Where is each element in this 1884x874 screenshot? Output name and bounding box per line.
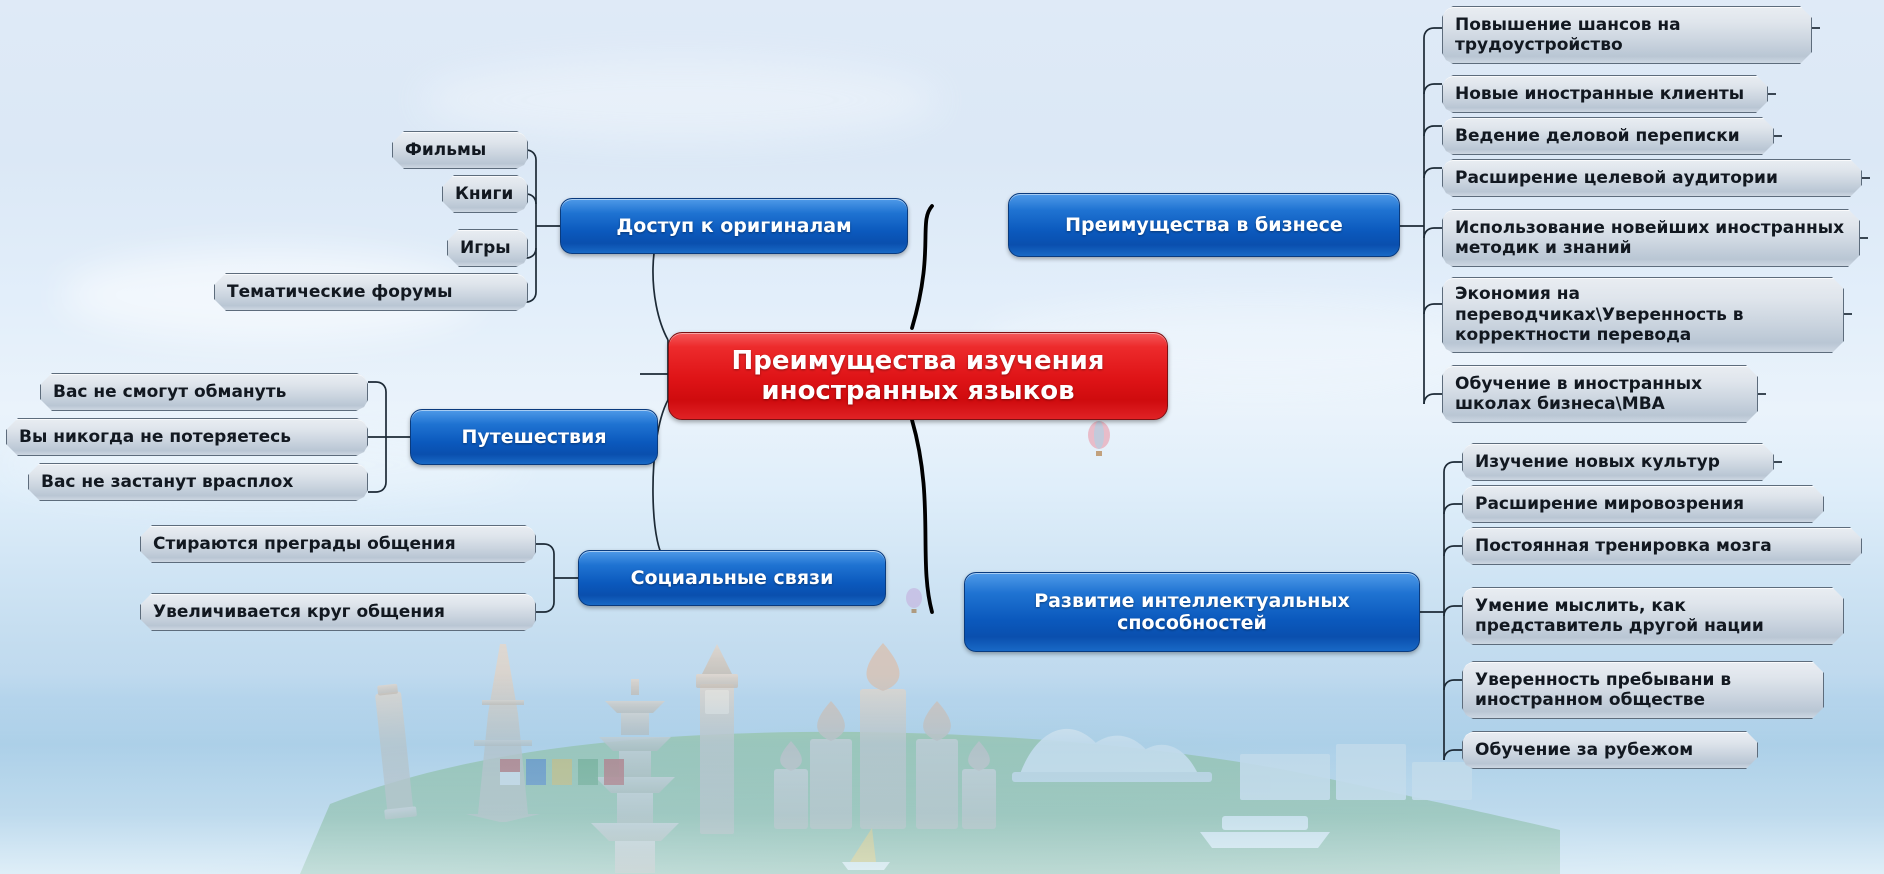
root-node[interactable]: Преимущества изучения иностранных языков [668, 332, 1168, 420]
leaf-node[interactable]: Увеличивается круг общения [140, 593, 536, 631]
hot-air-balloon-icon [905, 588, 923, 616]
leaf-node[interactable]: Обучение в иностранных школах бизнеса\MB… [1442, 365, 1758, 423]
leaf-label: Повышение шансов на трудоустройство [1455, 15, 1799, 56]
leaf-label: Обучение в иностранных школах бизнеса\MB… [1455, 374, 1745, 415]
leaf-node[interactable]: Изучение новых культур [1462, 443, 1774, 481]
leaf-label: Игры [460, 238, 515, 258]
leaf-label: Вас не застанут врасплох [41, 472, 355, 492]
category-label-business: Преимущества в бизнесе [1023, 214, 1385, 236]
leaf-label: Расширение целевой аудитории [1455, 168, 1849, 188]
leaf-label: Вы никогда не потеряетесь [19, 427, 355, 447]
leaf-label: Расширение мировозрения [1475, 494, 1811, 514]
leaf-node[interactable]: Книги [442, 175, 528, 213]
leaf-label: Использование новейших иностранных метод… [1455, 218, 1847, 259]
leaf-node[interactable]: Тематические форумы [214, 273, 528, 311]
leaf-label: Книги [455, 184, 515, 204]
leaf-label: Умение мыслить, как представитель другой… [1475, 596, 1831, 637]
leaf-label: Экономия на переводчиках\Уверенность в к… [1455, 284, 1831, 345]
leaf-label: Стираются преграды общения [153, 534, 523, 554]
leaf-node[interactable]: Уверенность пребывани в иностранном обще… [1462, 661, 1824, 719]
leaf-node[interactable]: Новые иностранные клиенты [1442, 75, 1768, 113]
hot-air-balloon-icon [1086, 420, 1112, 460]
leaf-label: Изучение новых культур [1475, 452, 1761, 472]
category-node-travel[interactable]: Путешествия [410, 409, 658, 465]
category-node-intellect[interactable]: Развитие интеллектуальных способностей [964, 572, 1420, 652]
mindmap-canvas: Преимущества изучения иностранных языков… [0, 0, 1884, 874]
leaf-label: Обучение за рубежом [1475, 740, 1745, 760]
leaf-node[interactable]: Ведение деловой переписки [1442, 117, 1774, 155]
leaf-node[interactable]: Расширение мировозрения [1462, 485, 1824, 523]
leaf-node[interactable]: Постоянная тренировка мозга [1462, 527, 1862, 565]
category-label-travel: Путешествия [425, 426, 643, 448]
leaf-label: Увеличивается круг общения [153, 602, 523, 622]
leaf-node[interactable]: Вас не смогут обмануть [40, 373, 368, 411]
category-label-intellect: Развитие интеллектуальных способностей [979, 590, 1405, 635]
category-node-social[interactable]: Социальные связи [578, 550, 886, 606]
category-label-social: Социальные связи [593, 567, 871, 589]
leaf-node[interactable]: Использование новейших иностранных метод… [1442, 209, 1860, 267]
category-node-business[interactable]: Преимущества в бизнесе [1008, 193, 1400, 257]
leaf-node[interactable]: Расширение целевой аудитории [1442, 159, 1862, 197]
leaf-label: Постоянная тренировка мозга [1475, 536, 1849, 556]
leaf-label: Тематические форумы [227, 282, 515, 302]
leaf-node[interactable]: Вас не застанут врасплох [28, 463, 368, 501]
leaf-node[interactable]: Стираются преграды общения [140, 525, 536, 563]
leaf-label: Вас не смогут обмануть [53, 382, 355, 402]
cloud-decoration [420, 60, 940, 140]
leaf-label: Фильмы [405, 140, 515, 160]
leaf-node[interactable]: Игры [447, 229, 528, 267]
category-node-originals[interactable]: Доступ к оригиналам [560, 198, 908, 254]
category-label-originals: Доступ к оригиналам [575, 215, 893, 237]
leaf-node[interactable]: Обучение за рубежом [1462, 731, 1758, 769]
leaf-node[interactable]: Вы никогда не потеряетесь [6, 418, 368, 456]
leaf-label: Новые иностранные клиенты [1455, 84, 1755, 104]
leaf-node[interactable]: Экономия на переводчиках\Уверенность в к… [1442, 277, 1844, 353]
leaf-label: Ведение деловой переписки [1455, 126, 1761, 146]
root-node-label: Преимущества изучения иностранных языков [687, 346, 1149, 406]
leaf-node[interactable]: Повышение шансов на трудоустройство [1442, 6, 1812, 64]
leaf-label: Уверенность пребывани в иностранном обще… [1475, 670, 1811, 711]
leaf-node[interactable]: Фильмы [392, 131, 528, 169]
leaf-node[interactable]: Умение мыслить, как представитель другой… [1462, 587, 1844, 645]
